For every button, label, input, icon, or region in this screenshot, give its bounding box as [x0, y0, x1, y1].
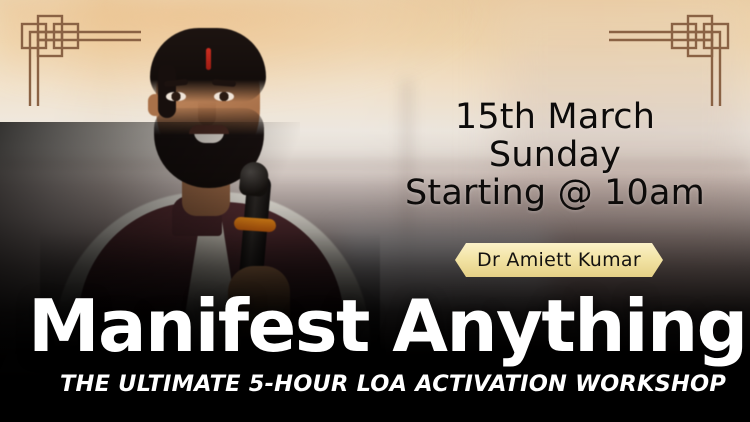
event-promo-poster: 15th March Sunday Starting @ 10am Dr Ami… [0, 0, 750, 422]
poster-subheadline: THE ULTIMATE 5-HOUR LOA ACTIVATION WORKS… [60, 371, 720, 397]
corner-ornament-top-left [6, 6, 141, 106]
event-date-line-1: 15th March [380, 98, 730, 136]
speaker-eye-right [214, 92, 234, 101]
corner-ornament-top-right [609, 6, 744, 106]
event-date-line-3: Starting @ 10am [380, 174, 730, 212]
poster-headline: Manifest Anything [28, 291, 728, 361]
event-date-line-2: Sunday [380, 136, 730, 174]
presenter-name-badge: Dr Amiett Kumar [455, 243, 663, 277]
presenter-name-label: Dr Amiett Kumar [477, 249, 641, 271]
event-date-block: 15th March Sunday Starting @ 10am [380, 98, 730, 212]
speaker-eye-left [166, 92, 186, 101]
speaker-tilak-mark [206, 48, 211, 70]
